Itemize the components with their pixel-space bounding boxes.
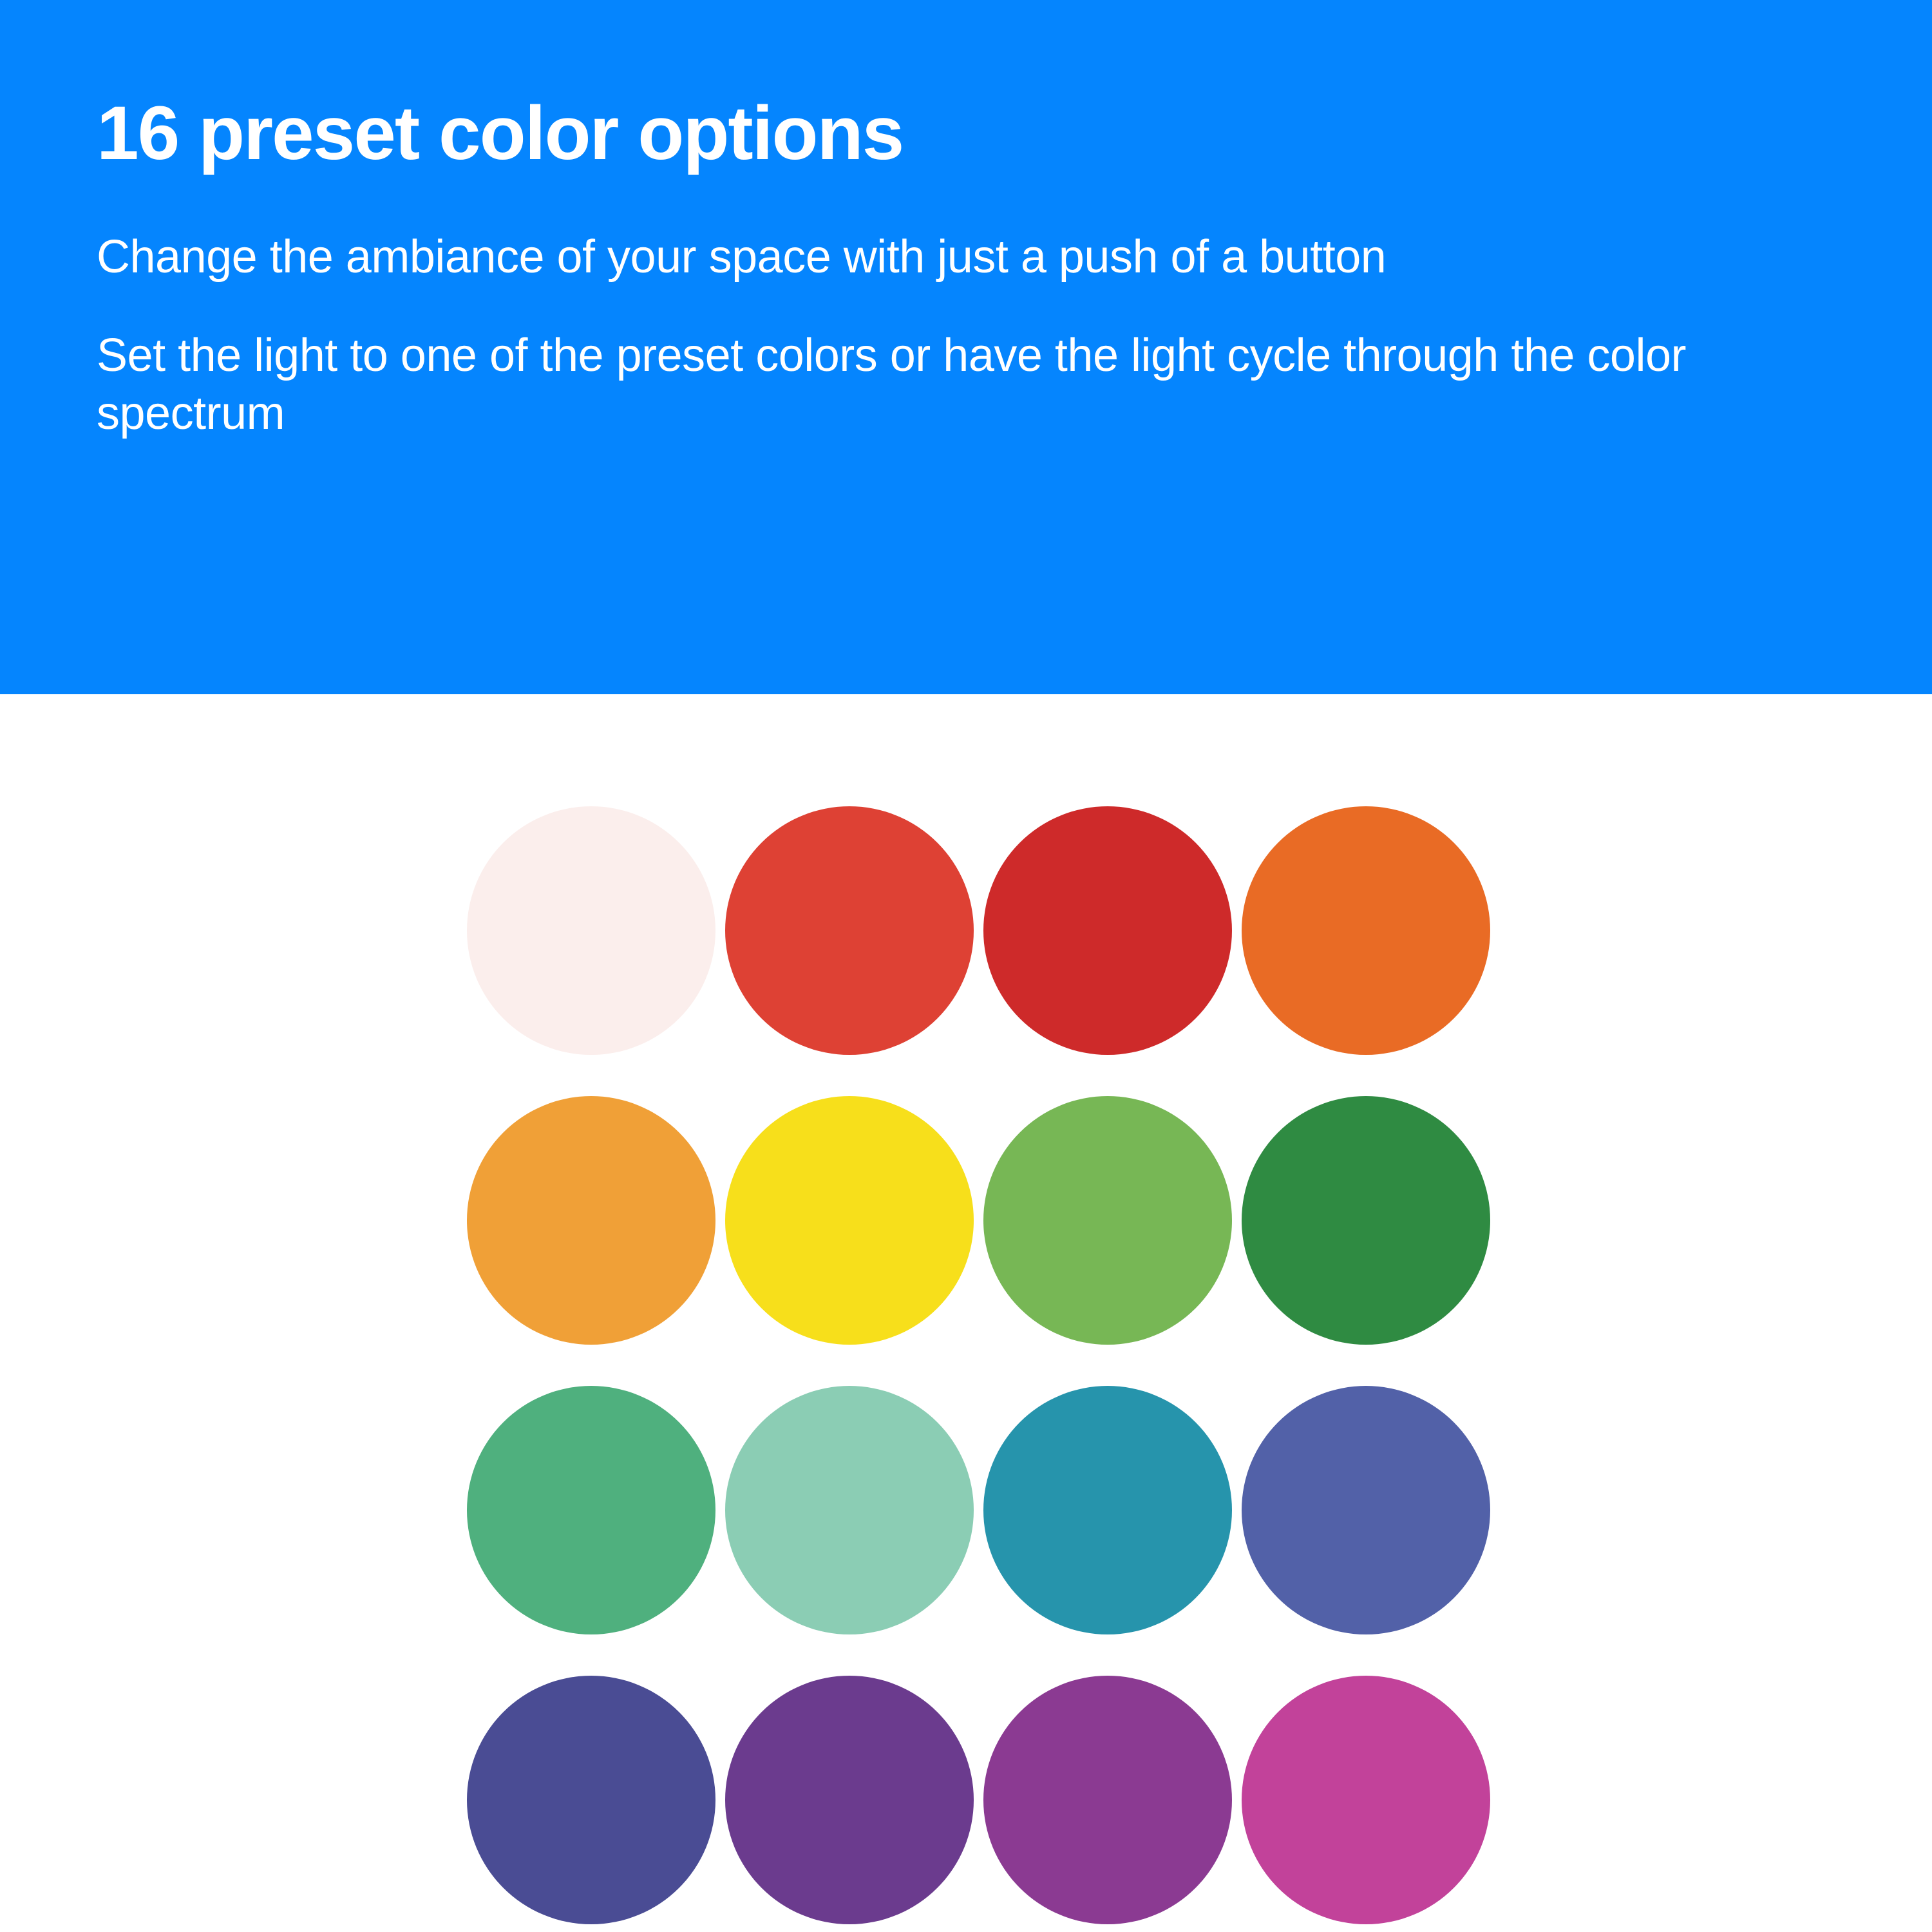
color-swatch-teal[interactable]: [983, 1386, 1232, 1634]
color-swatch-indigo[interactable]: [467, 1676, 715, 1924]
hero-description-secondary: Set the light to one of the preset color…: [97, 327, 1823, 443]
color-swatch-magenta[interactable]: [1242, 1676, 1490, 1924]
page-title: 16 preset color options: [97, 95, 1835, 171]
color-swatch-orange[interactable]: [1242, 806, 1490, 1055]
color-swatch-purple[interactable]: [983, 1676, 1232, 1924]
color-swatch-yellow[interactable]: [725, 1096, 974, 1345]
color-swatch-grid: [467, 806, 1491, 1924]
color-swatch-white[interactable]: [467, 806, 715, 1055]
hero-description-primary: Change the ambiance of your space with j…: [97, 228, 1823, 287]
color-swatch-amber[interactable]: [467, 1096, 715, 1345]
color-swatch-light-green[interactable]: [983, 1096, 1232, 1345]
hero-banner: 16 preset color options Change the ambia…: [0, 0, 1932, 694]
color-swatch-forest-green[interactable]: [1242, 1096, 1490, 1345]
color-swatch-slate-blue[interactable]: [1242, 1386, 1490, 1634]
color-swatch-section: [0, 694, 1932, 1932]
color-swatch-mint[interactable]: [725, 1386, 974, 1634]
color-swatch-crimson-red[interactable]: [983, 806, 1232, 1055]
color-swatch-emerald[interactable]: [467, 1386, 715, 1634]
page-root: 16 preset color options Change the ambia…: [0, 0, 1932, 1932]
color-swatch-deep-purple[interactable]: [725, 1676, 974, 1924]
color-swatch-coral-red[interactable]: [725, 806, 974, 1055]
